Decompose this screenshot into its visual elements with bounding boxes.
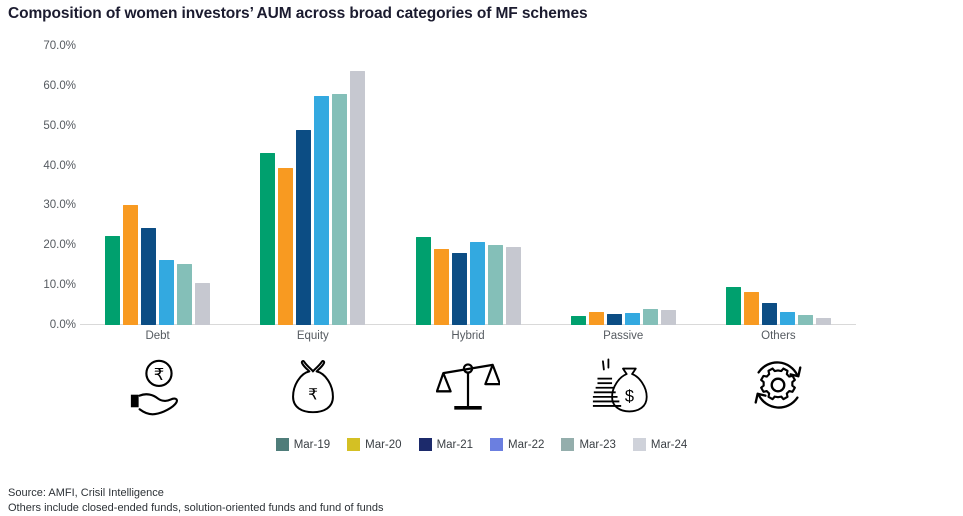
bar[interactable] [195,283,210,325]
bar[interactable] [816,318,831,325]
y-axis-tick-label: 20.0% [4,239,76,251]
bar-group [235,46,390,325]
bar[interactable] [506,247,521,325]
money-bag-coins-dollar-icon: $ [546,350,701,420]
category-icons-row: ₹ ₹ $ [80,350,856,420]
x-axis-category-label: Passive [546,330,701,348]
y-axis-tick-label: 0.0% [4,319,76,331]
x-axis-category-label: Hybrid [390,330,545,348]
money-bag-rupee-icon: ₹ [235,350,390,420]
bar-group [546,46,701,325]
bar-group [390,46,545,325]
bar[interactable] [643,309,658,325]
bar-group [80,46,235,325]
bar[interactable] [726,287,741,325]
bar[interactable] [314,96,329,325]
x-axis-category-label: Equity [235,330,390,348]
legend-label: Mar-20 [365,439,401,451]
chart-legend: Mar-19Mar-20Mar-21Mar-22Mar-23Mar-24 [0,438,963,451]
legend-label: Mar-23 [579,439,615,451]
y-axis-tick-label: 60.0% [4,80,76,92]
y-axis-tick-label: 10.0% [4,279,76,291]
bar[interactable] [488,245,503,325]
bar[interactable] [589,312,604,325]
svg-text:₹: ₹ [308,387,318,404]
legend-swatch [347,438,360,451]
x-axis-category-labels: DebtEquityHybridPassiveOthers [80,330,856,348]
hand-rupee-coin-icon: ₹ [80,350,235,420]
balance-scales-icon [390,350,545,420]
bar[interactable] [260,153,275,325]
legend-swatch [419,438,432,451]
y-axis-tick-label: 50.0% [4,120,76,132]
bar[interactable] [625,313,640,325]
bar-group [701,46,856,325]
bar[interactable] [332,94,347,325]
bar[interactable] [661,310,676,325]
legend-swatch [561,438,574,451]
bar-groups [80,46,856,325]
others-note-text: Others include closed-ended funds, solut… [8,501,383,516]
legend-item[interactable]: Mar-20 [347,438,401,451]
legend-label: Mar-24 [651,439,687,451]
legend-label: Mar-22 [508,439,544,451]
legend-swatch [490,438,503,451]
chart-root: Composition of women investors’ AUM acro… [0,0,963,516]
gear-refresh-icon [701,350,856,420]
legend-label: Mar-19 [294,439,330,451]
y-axis-tick-label: 70.0% [4,40,76,52]
source-text: Source: AMFI, Crisil Intelligence [8,486,383,501]
bar[interactable] [141,228,156,325]
x-axis-category-label: Debt [80,330,235,348]
legend-item[interactable]: Mar-19 [276,438,330,451]
page-title: Composition of women investors’ AUM acro… [8,5,588,23]
bar[interactable] [296,130,311,325]
legend-item[interactable]: Mar-21 [419,438,473,451]
svg-text:₹: ₹ [153,366,163,384]
bar[interactable] [452,253,467,325]
svg-text:$: $ [625,387,634,405]
bar[interactable] [159,260,174,325]
bar[interactable] [278,168,293,325]
legend-label: Mar-21 [437,439,473,451]
bar[interactable] [744,292,759,325]
bar[interactable] [571,316,586,325]
bar[interactable] [177,264,192,325]
x-axis-category-label: Others [701,330,856,348]
bar[interactable] [762,303,777,325]
bar[interactable] [350,71,365,325]
bar[interactable] [416,237,431,325]
y-axis-ticks: 0.0%10.0%20.0%30.0%40.0%50.0%60.0%70.0% [0,46,76,325]
legend-swatch [633,438,646,451]
legend-item[interactable]: Mar-22 [490,438,544,451]
bar[interactable] [123,205,138,325]
legend-item[interactable]: Mar-23 [561,438,615,451]
y-axis-tick-label: 30.0% [4,199,76,211]
bar[interactable] [105,236,120,325]
bar[interactable] [607,314,622,325]
legend-item[interactable]: Mar-24 [633,438,687,451]
bar[interactable] [780,312,795,325]
legend-swatch [276,438,289,451]
bar[interactable] [470,242,485,325]
bar[interactable] [798,315,813,325]
y-axis-tick-label: 40.0% [4,160,76,172]
bar[interactable] [434,249,449,325]
footer-notes: Source: AMFI, Crisil Intelligence Others… [8,486,383,516]
